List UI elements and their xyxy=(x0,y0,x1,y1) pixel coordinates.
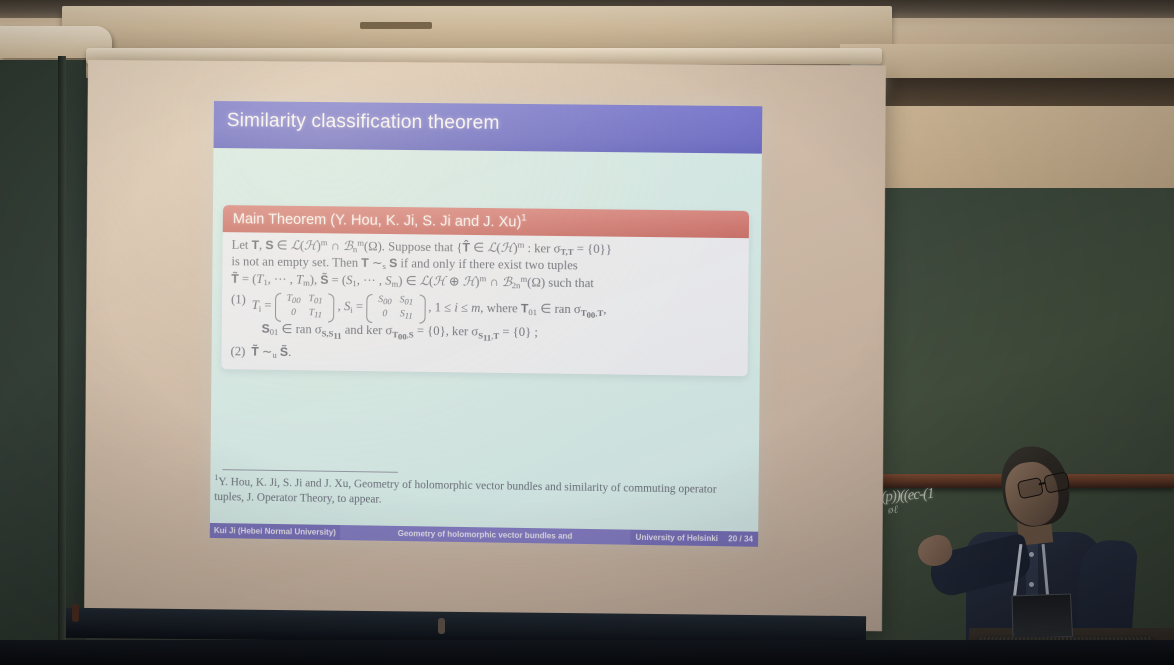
matrix-T: T00T010T11 xyxy=(274,292,334,322)
footer-venue: University of Helsinki xyxy=(630,530,723,547)
theorem-body: Let T, S ∈ ℒ(ℋ)m ∩ ℬnm(Ω). Suppose that … xyxy=(221,232,748,376)
wall-ledge-right xyxy=(840,44,1174,78)
footer-author-name: Kui Ji xyxy=(214,526,236,535)
ceiling-vent-slot xyxy=(360,22,432,29)
footnote: 1Y. Hou, K. Ji, S. Ji and J. Xu, Geometr… xyxy=(214,473,728,513)
footer-author-affiliation: (Hebei Normal University) xyxy=(238,526,336,537)
lecture-hall-scene: V/(p))((ec-(1 øℓ Similarity classificati… xyxy=(0,0,1174,665)
footer-author: Kui Ji (Hebei Normal University) xyxy=(210,523,340,540)
footnote-rule xyxy=(222,469,397,473)
wall-panel-right xyxy=(852,106,1174,188)
wall-band-right xyxy=(852,78,1174,106)
theorem-item-1-content: Ti = T00T010T11 , Si = S00S010S11 , 1 ≤ … xyxy=(251,291,606,345)
footnote-text: Y. Hou, K. Ji, S. Ji and J. Xu, Geometry… xyxy=(214,476,716,505)
matrix-S: S00S010S11 xyxy=(366,293,425,323)
blackboard-left xyxy=(0,60,86,665)
blackboard-left-frame xyxy=(58,56,66,665)
screen-pull-left xyxy=(72,604,79,622)
foreground-floor xyxy=(0,640,1174,665)
presenter-shirt-button xyxy=(1029,582,1034,587)
theorem-item-1-label: (1) xyxy=(231,291,246,340)
footer-page-number: 20 / 34 xyxy=(723,531,758,547)
theorem-item-2: (2) T̃ ∼u S̃. xyxy=(231,343,739,367)
chalk-note-secondary: øℓ xyxy=(888,504,899,517)
theorem-item-1: (1) Ti = T00T010T11 , Si = S00S010S11 , … xyxy=(231,291,739,347)
theorem-header-text: Main Theorem (Y. Hou, K. Ji, S. Ji and J… xyxy=(233,211,522,230)
theorem-item-2-content: T̃ ∼u S̃. xyxy=(251,343,291,361)
presenter-shirt-button xyxy=(1029,552,1034,557)
laptop-screen xyxy=(1012,594,1074,640)
screen-pull-handle xyxy=(438,618,445,634)
slide-title: Similarity classification theorem xyxy=(227,110,500,135)
ceiling-bulkhead xyxy=(62,6,892,54)
theorem-header-superscript: 1 xyxy=(521,212,526,222)
projected-slide: Similarity classification theorem Main T… xyxy=(210,101,763,547)
theorem-item-2-label: (2) xyxy=(231,343,246,360)
theorem-block: Main Theorem (Y. Hou, K. Ji, S. Ji and J… xyxy=(221,205,749,376)
